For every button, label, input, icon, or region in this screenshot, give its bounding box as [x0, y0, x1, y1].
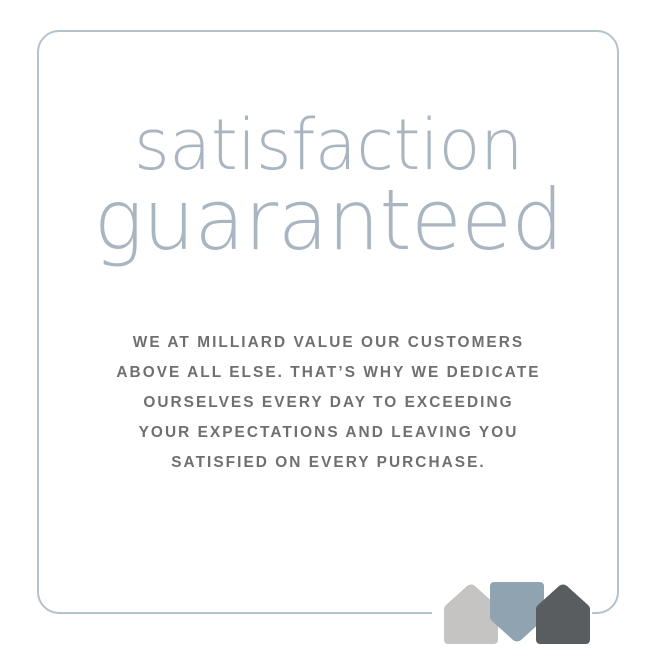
headline-line-satisfaction: satisfaction: [7, 112, 651, 179]
milliard-logo-mark: [441, 582, 593, 644]
logo-pentagon-light-icon: [444, 584, 498, 644]
logo-pentagon-dark-icon: [536, 584, 590, 644]
logo-pentagon-blue-icon: [490, 582, 544, 642]
body-line-4: YOUR EXPECTATIONS AND LEAVING YOU: [78, 418, 579, 448]
headline-line-guaranteed: guaranteed: [7, 181, 651, 261]
page-title: satisfaction guaranteed: [0, 112, 657, 260]
body-line-3: OURSELVES EVERY DAY TO EXCEEDING: [78, 388, 579, 418]
body-line-1: WE AT MILLIARD VALUE OUR CUSTOMERS: [78, 328, 579, 358]
guarantee-statement: WE AT MILLIARD VALUE OUR CUSTOMERS ABOVE…: [78, 328, 579, 478]
satisfaction-guarantee-card: satisfaction guaranteed WE AT MILLIARD V…: [0, 0, 657, 656]
body-line-5: SATISFIED ON EVERY PURCHASE.: [78, 448, 579, 478]
body-line-2: ABOVE ALL ELSE. THAT’S WHY WE DEDICATE: [78, 358, 579, 388]
